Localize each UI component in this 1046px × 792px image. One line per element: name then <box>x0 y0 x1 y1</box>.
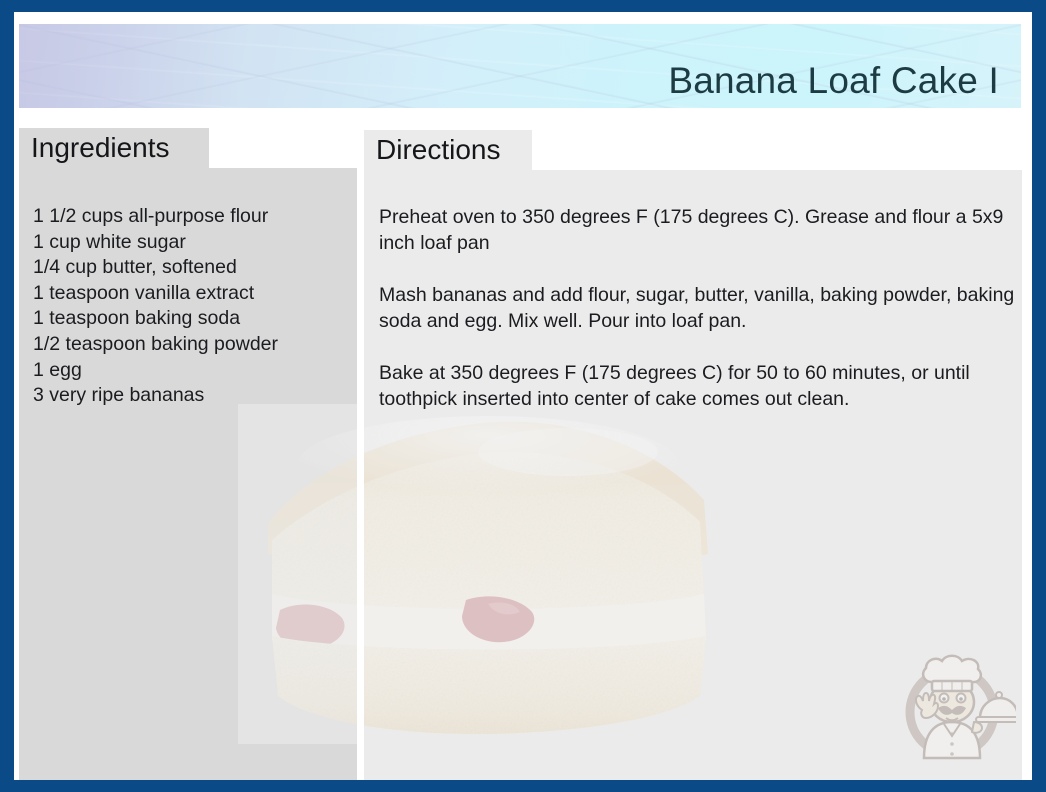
list-item: 1 teaspoon baking soda <box>33 306 349 332</box>
page-title: Banana Loaf Cake I <box>668 61 999 102</box>
card-inner-surface: Banana Loaf Cake I Ingredients 1 1/2 cup… <box>14 12 1032 780</box>
section-heading-directions: Directions <box>364 130 532 172</box>
list-item: 1/4 cup butter, softened <box>33 255 349 281</box>
section-heading-ingredients: Ingredients <box>19 128 209 170</box>
list-item: 1 cup white sugar <box>33 230 349 256</box>
list-item: 1 egg <box>33 358 349 384</box>
list-item: 3 very ripe bananas <box>33 383 349 409</box>
list-item: 1 1/2 cups all-purpose flour <box>33 204 349 230</box>
directions-panel: Preheat oven to 350 degrees F (175 degre… <box>364 170 1022 780</box>
direction-step: Bake at 350 degrees F (175 degrees C) fo… <box>379 360 1027 412</box>
direction-step: Mash bananas and add flour, sugar, butte… <box>379 282 1027 334</box>
list-item: 1/2 teaspoon baking powder <box>33 332 349 358</box>
recipe-card-page: Banana Loaf Cake I Ingredients 1 1/2 cup… <box>0 0 1046 792</box>
direction-step: Preheat oven to 350 degrees F (175 degre… <box>379 204 1027 256</box>
list-item: 1 teaspoon vanilla extract <box>33 281 349 307</box>
header-banner: Banana Loaf Cake I <box>19 24 1021 108</box>
ingredients-panel: 1 1/2 cups all-purpose flour 1 cup white… <box>19 168 357 780</box>
directions-list: Preheat oven to 350 degrees F (175 degre… <box>379 204 1027 412</box>
ingredients-list: 1 1/2 cups all-purpose flour 1 cup white… <box>33 204 349 409</box>
panel-divider <box>357 168 364 780</box>
